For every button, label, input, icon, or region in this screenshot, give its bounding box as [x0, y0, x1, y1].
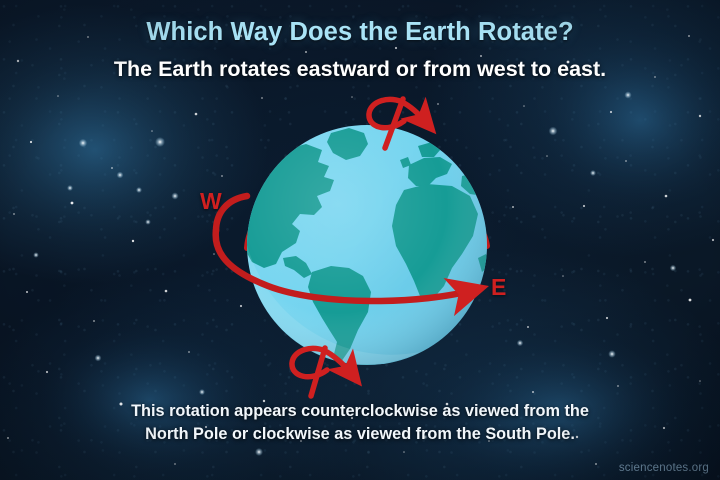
caption-text: This rotation appears counterclockwise a… [0, 400, 720, 446]
west-label: W [200, 188, 222, 215]
caption-line-2: North Pole or clockwise as viewed from t… [0, 423, 720, 446]
watermark-sciencenotes: sciencenotes.org [619, 462, 709, 474]
east-label: E [491, 274, 506, 301]
caption-line-1: This rotation appears counterclockwise a… [0, 400, 720, 423]
infographic-canvas: Which Way Does the Earth Rotate? The Ear… [0, 0, 720, 480]
globe [240, 125, 489, 365]
